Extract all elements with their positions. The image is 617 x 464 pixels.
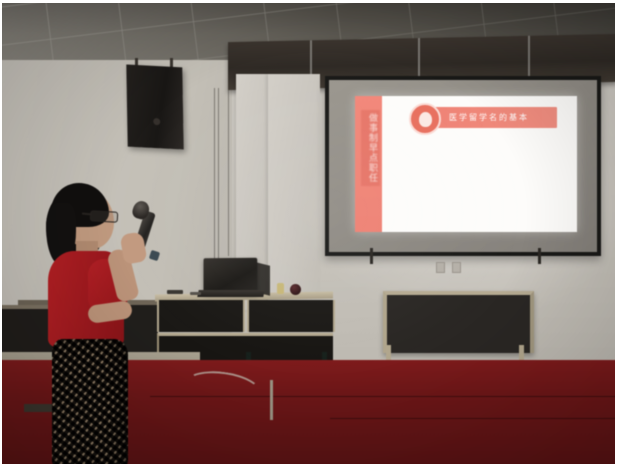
desk-object-flat [167, 290, 183, 294]
wall-cable [218, 88, 219, 264]
screen-hanger [538, 248, 541, 264]
projection-screen: 做事制早点职任 医学留学名的基本 [325, 76, 601, 256]
speaker-cone [153, 118, 160, 125]
presenter-desk [155, 293, 333, 355]
screen-hanger [370, 248, 373, 264]
laptop-screen [204, 258, 258, 295]
presentation-photo: 做事制早点职任 医学留学名的基本 [0, 0, 617, 464]
desk-object-small [277, 283, 284, 294]
glasses-icon [90, 210, 119, 222]
desk-panel [157, 300, 245, 332]
desk-object-ball [290, 284, 301, 295]
slide-logo-icon [409, 103, 441, 135]
slide-body [382, 132, 577, 232]
side-cabinet [383, 291, 534, 353]
slide-header-banner: 医学留学名的基本 [415, 107, 557, 128]
wall-cable [228, 90, 229, 256]
desk-panel [247, 300, 335, 332]
presenter-trousers [52, 339, 128, 464]
desk-object-flat [190, 292, 201, 295]
wall-cable [214, 88, 215, 270]
presenter [38, 183, 168, 464]
slide-logo-glyph [419, 112, 432, 127]
slide-sidebar-text: 做事制早点职任 [361, 110, 380, 186]
laptop-base [197, 290, 264, 297]
loudspeaker-icon [126, 64, 183, 149]
wall-outlet-icon [436, 262, 445, 273]
wall-outlet-icon [452, 262, 461, 273]
slide-sidebar: 做事制早点职任 [355, 96, 382, 232]
carpet-seam [330, 418, 617, 419]
microphone-base [149, 250, 160, 261]
slide-banner-text: 医学留学名的基本 [449, 112, 529, 123]
floor-cable [270, 380, 273, 420]
projected-slide: 做事制早点职任 医学留学名的基本 [355, 96, 577, 232]
